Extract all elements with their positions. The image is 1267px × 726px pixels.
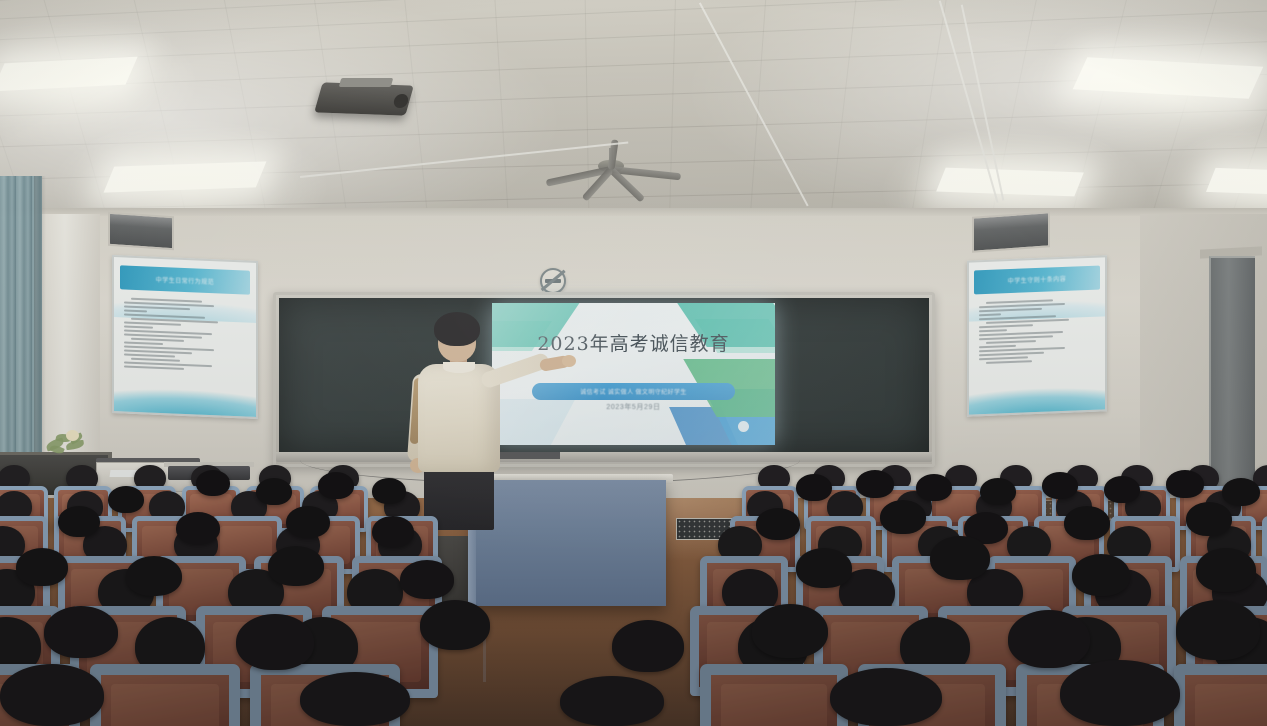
seat-cushion [721, 684, 827, 726]
student-head [300, 672, 410, 726]
student-head [256, 478, 292, 505]
curtain-shadow [34, 176, 46, 466]
poster-text-line [986, 318, 1069, 323]
poster-text-line [979, 351, 1044, 356]
auditorium-seat [1174, 664, 1267, 726]
student-head [1072, 554, 1130, 596]
classroom-photo: 中学生日常行为规范 中学生守则十条内容 禁止吸烟 2023年高考诚信教育 诚信考… [0, 0, 1267, 726]
student-head [58, 506, 100, 537]
wall-poster-right: 中学生守则十条内容 [967, 255, 1107, 416]
wall-speaker-left [108, 212, 174, 251]
flower-icon [66, 430, 79, 441]
poster-wave-bottom [114, 374, 256, 419]
poster-text-line [979, 329, 1007, 332]
student-head [1196, 548, 1256, 592]
slide-subtitle-text: 诚信考试 诚实做人 做文明守纪好学生 [580, 387, 687, 396]
slide-date: 2023年5月29日 [492, 402, 775, 412]
student-head [756, 508, 800, 540]
poster-text-line [124, 325, 153, 328]
poster-text-line [124, 341, 163, 345]
auditorium-seat [700, 664, 848, 726]
student-head [916, 474, 952, 501]
slide-logo-dot [738, 421, 749, 432]
student-head [1060, 660, 1180, 726]
student-head [236, 614, 314, 670]
poster-text-line [986, 360, 1033, 364]
ceiling-grid-line [400, 0, 433, 232]
wall-poster-left: 中学生日常行为规范 [112, 255, 258, 419]
student-head [856, 470, 894, 498]
ceiling-grid-line [826, 0, 861, 232]
poster-text-line [979, 324, 1034, 328]
student-head [372, 478, 406, 504]
student-head [980, 478, 1016, 505]
speaker-gloss [974, 213, 1048, 230]
student-head [318, 472, 354, 499]
seat-cushion [111, 684, 219, 726]
student-head [0, 664, 104, 726]
poster-wave-bottom [969, 373, 1105, 417]
student-head [372, 516, 414, 547]
poster-text-line [979, 356, 1028, 360]
student-head [560, 676, 664, 726]
student-head [612, 620, 684, 672]
student-head [108, 486, 144, 513]
student-head [176, 512, 220, 544]
projected-slide: 2023年高考诚信教育 诚信考试 诚实做人 做文明守纪好学生 2023年5月29… [492, 303, 775, 445]
poster-text-line [124, 365, 184, 370]
student-head [420, 600, 490, 650]
student-head [268, 546, 324, 586]
student-head [1186, 502, 1232, 536]
poster-text-line [979, 313, 1001, 316]
ceiling-grid-line [747, 0, 769, 232]
presenter-right-hand [562, 355, 576, 367]
slide-subtitle-pill: 诚信考试 诚实做人 做文明守纪好学生 [532, 383, 736, 400]
wall-speaker-right [972, 211, 1050, 252]
student-head [752, 604, 828, 658]
student-head [930, 536, 990, 580]
student-head [796, 548, 852, 588]
student-head [196, 470, 230, 496]
student-head [400, 560, 454, 599]
student-head [1176, 600, 1260, 660]
presenter [398, 312, 528, 512]
presenter-hair [434, 312, 480, 346]
ceiling-grid-line [492, 0, 511, 232]
student-head [1064, 506, 1110, 540]
student-head [286, 506, 330, 538]
student-head [126, 556, 182, 596]
speaker-gloss [110, 214, 172, 230]
poster-text-line [986, 340, 1036, 344]
student-head [830, 668, 942, 726]
student-head [16, 548, 68, 586]
plant-leaf [49, 444, 65, 456]
student-head [880, 500, 926, 534]
ceiling-grid-line [0, 0, 1267, 29]
poster-text-line [979, 344, 1016, 347]
presenter-collar [443, 362, 475, 373]
seat-cushion [1195, 684, 1267, 726]
student-head [1166, 470, 1204, 498]
student-head [796, 474, 832, 501]
presenter-leg-split [483, 636, 486, 682]
student-head [1008, 610, 1090, 668]
poster-text-line [979, 307, 1042, 311]
projector-mount-plate [339, 78, 394, 87]
student-head [1104, 476, 1140, 503]
student-head [1222, 478, 1260, 506]
student-head [1042, 472, 1078, 499]
auditorium-seat [90, 664, 240, 726]
student-head [44, 606, 118, 658]
poster-text-line [979, 335, 1054, 340]
poster-text-line [124, 309, 147, 312]
wall-top-trim [0, 208, 1267, 216]
slide-title: 2023年高考诚信教育 [492, 329, 775, 356]
